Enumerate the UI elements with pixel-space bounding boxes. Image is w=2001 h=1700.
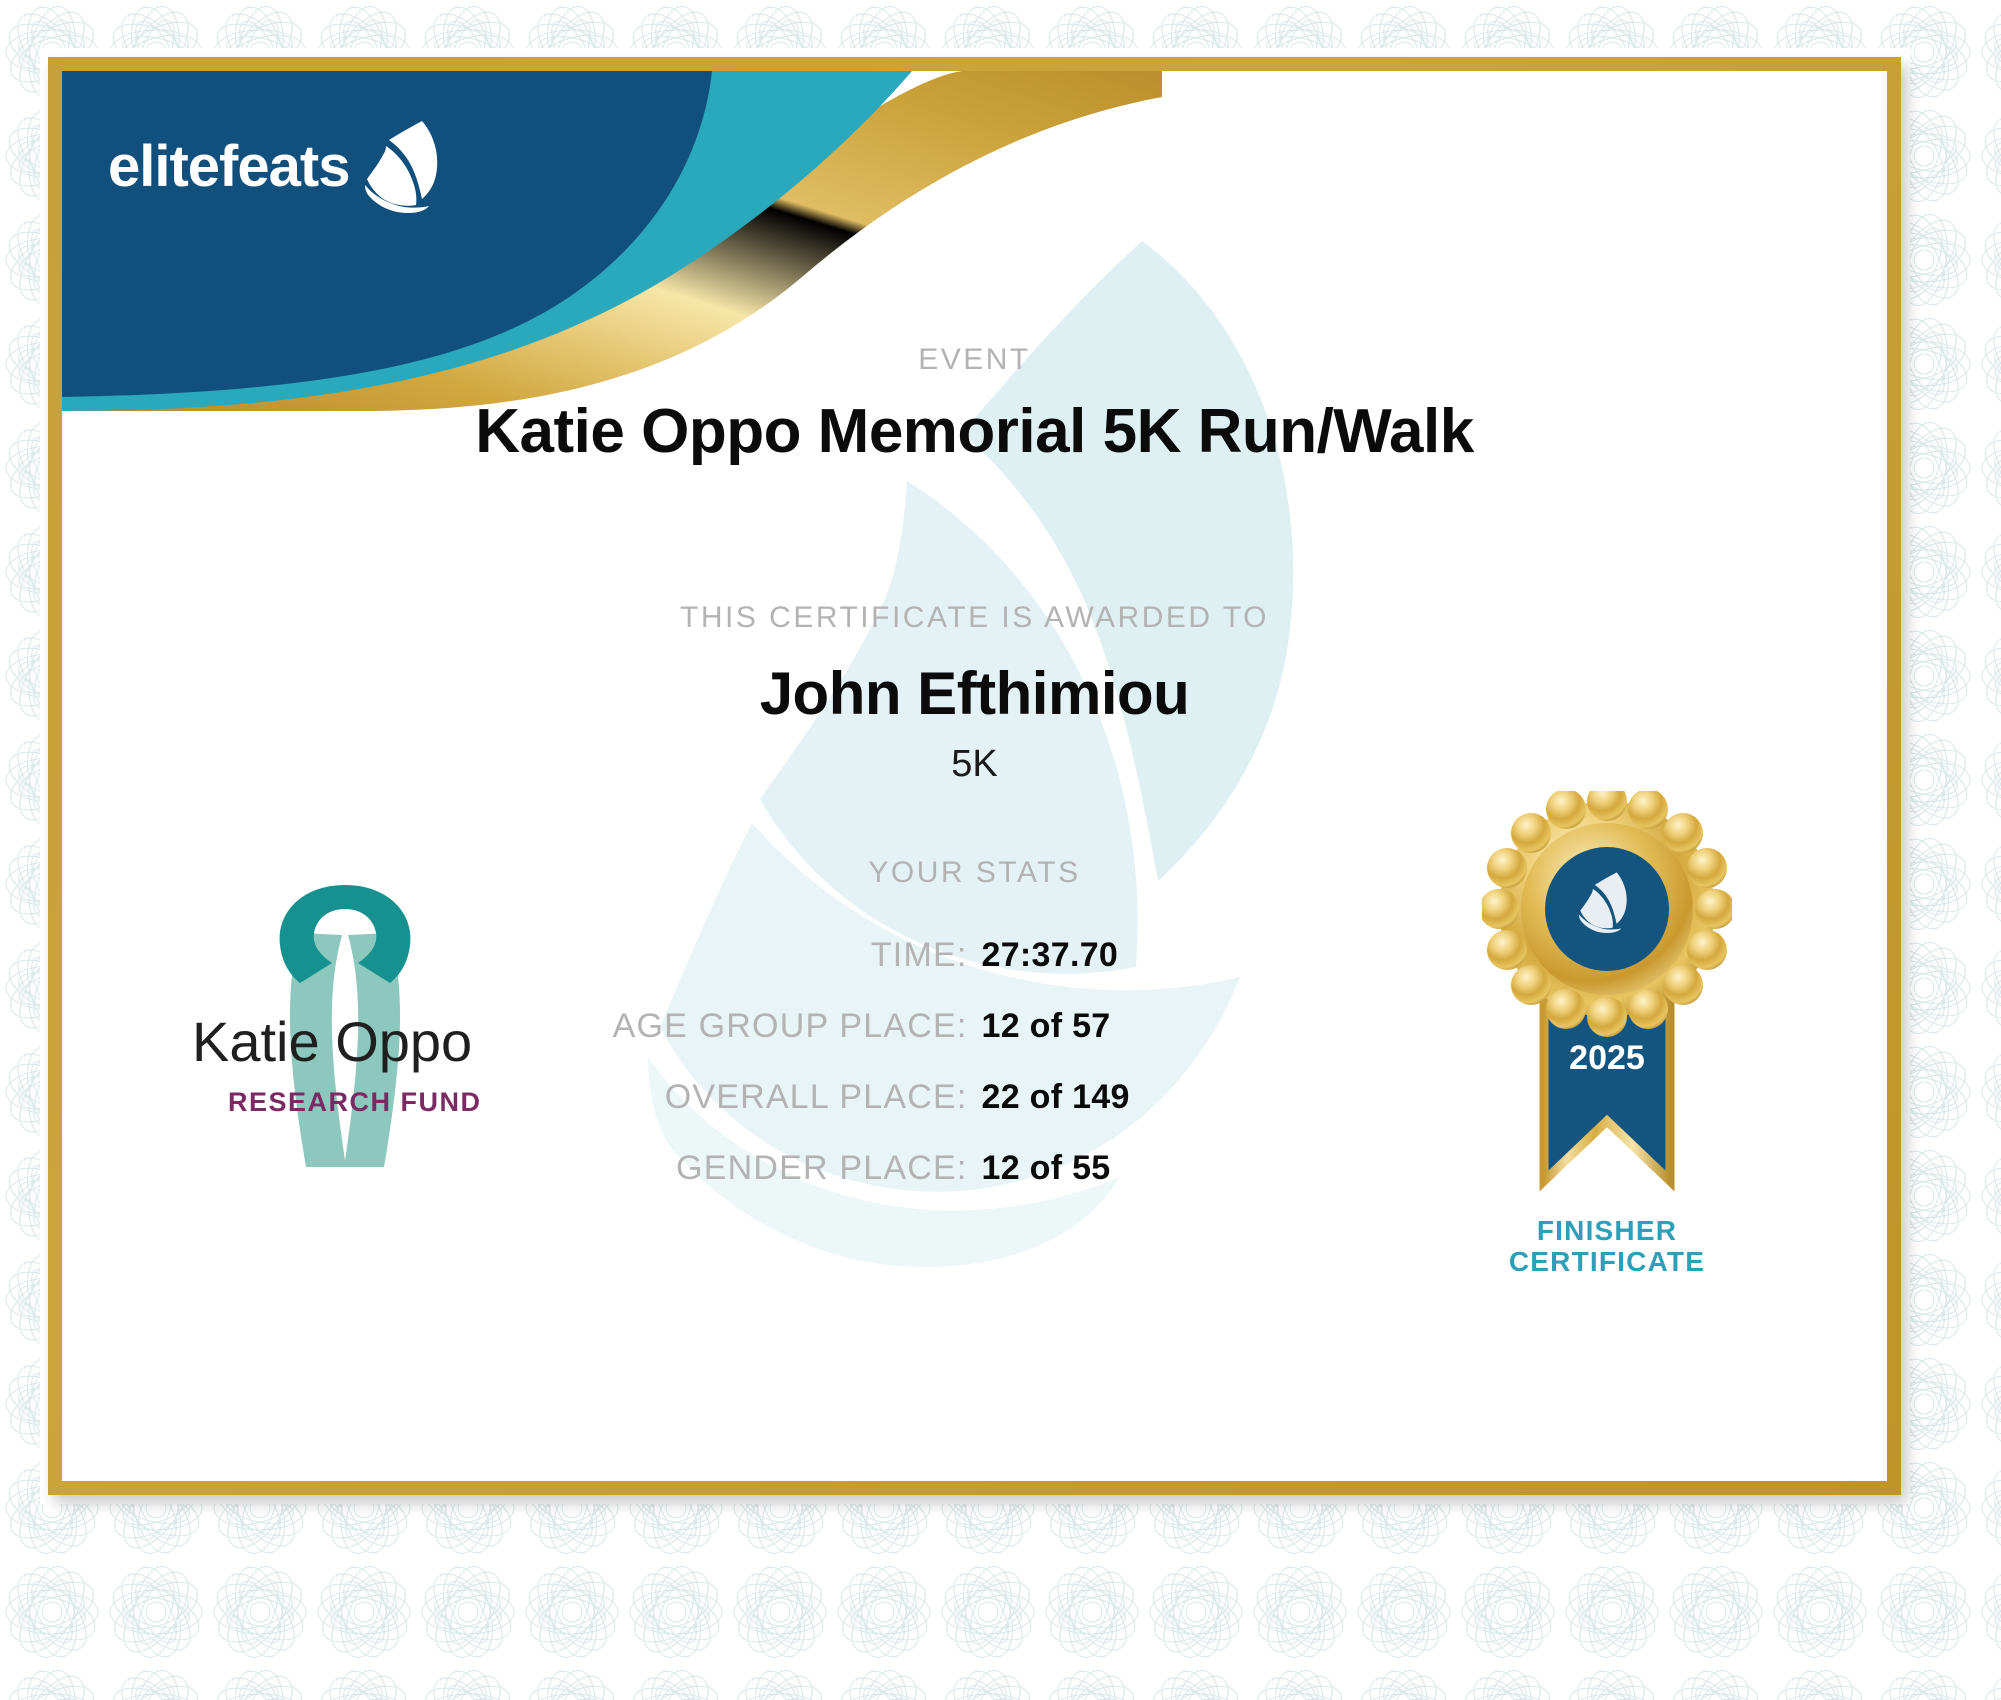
finisher-caption-line-1: FINISHER <box>1457 1215 1757 1246</box>
event-title: Katie Oppo Memorial 5K Run/Walk <box>62 396 1887 467</box>
stat-label: AGE GROUP PLACE: <box>528 1007 968 1046</box>
finisher-caption-line-2: CERTIFICATE <box>1457 1246 1757 1277</box>
stat-value: 12 of 57 <box>968 1007 1422 1046</box>
gold-medal-rosette-icon: 2025 <box>1482 791 1732 1211</box>
finisher-badge: 2025 <box>1457 791 1757 1278</box>
stat-label: GENDER PLACE: <box>528 1149 968 1188</box>
finisher-caption: FINISHER CERTIFICATE <box>1457 1215 1757 1278</box>
recipient-division: 5K <box>62 743 1887 786</box>
stat-label: TIME: <box>528 936 968 975</box>
sponsor-name: Katie Oppo <box>192 1010 472 1073</box>
stat-value: 22 of 149 <box>968 1078 1422 1117</box>
certificate-body: elitefeats EVENT Katie Oppo Memorial 5K … <box>62 71 1887 1481</box>
certificate-content: EVENT Katie Oppo Memorial 5K Run/Walk TH… <box>62 71 1887 1481</box>
awarded-to-label: THIS CERTIFICATE IS AWARDED TO <box>62 601 1887 635</box>
gold-border-frame: elitefeats EVENT Katie Oppo Memorial 5K … <box>48 57 1901 1495</box>
sponsor-logo-katie-oppo: Katie Oppo RESEARCH FUND <box>180 871 510 1171</box>
event-kicker-label: EVENT <box>62 343 1887 377</box>
certificate-page: elitefeats EVENT Katie Oppo Memorial 5K … <box>0 0 2001 1700</box>
stat-value: 27:37.70 <box>968 936 1422 975</box>
badge-year: 2025 <box>1569 1039 1645 1077</box>
stat-value: 12 of 55 <box>968 1149 1422 1188</box>
sponsor-tagline: RESEARCH FUND <box>228 1087 482 1117</box>
recipient-name: John Efthimiou <box>62 659 1887 728</box>
stat-label: OVERALL PLACE: <box>528 1078 968 1117</box>
